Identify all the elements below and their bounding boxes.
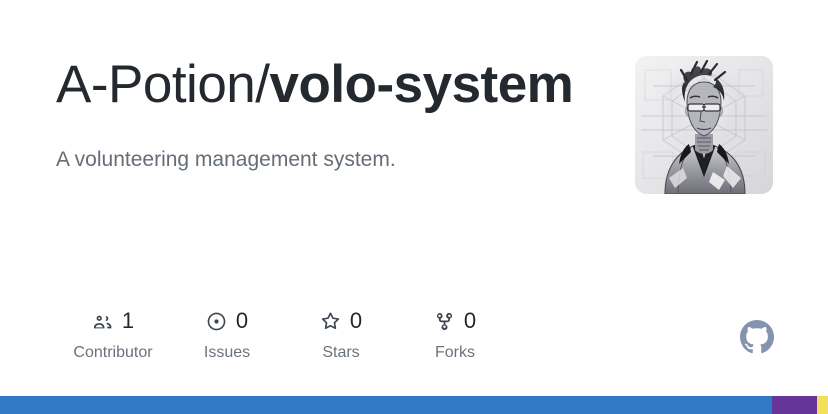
avatar	[635, 56, 773, 194]
repo-stats: 1 Contributor 0 Issues	[56, 308, 512, 362]
stat-forks-label: Forks	[435, 344, 475, 362]
stat-contributors-label: Contributor	[73, 344, 152, 362]
stat-issues-label: Issues	[204, 344, 250, 362]
issue-opened-icon	[206, 311, 227, 332]
language-segment-yellow	[817, 396, 828, 414]
language-bar	[0, 396, 828, 414]
repo-card: A-Potion/volo-system A volunteering mana…	[0, 0, 828, 396]
stat-contributors-value: 1	[122, 310, 134, 332]
stat-issues-value: 0	[236, 310, 248, 332]
stat-issues: 0 Issues	[170, 308, 284, 362]
stat-forks-top: 0	[434, 308, 476, 334]
stat-contributors: 1 Contributor	[56, 308, 170, 362]
stat-forks: 0 Forks	[398, 308, 512, 362]
repo-header: A-Potion/volo-system A volunteering mana…	[56, 52, 616, 175]
stat-stars: 0 Stars	[284, 308, 398, 362]
language-segment-blue	[0, 396, 772, 414]
repo-name[interactable]: volo-system	[270, 55, 574, 114]
repo-description: A volunteering management system.	[56, 146, 616, 174]
repo-forked-icon	[434, 311, 455, 332]
page-title: A-Potion/volo-system	[56, 52, 616, 118]
language-segment-purple	[772, 396, 817, 414]
stat-stars-top: 0	[320, 308, 362, 334]
star-icon	[320, 311, 341, 332]
stat-forks-value: 0	[464, 310, 476, 332]
stat-contributors-top: 1	[92, 308, 134, 334]
github-octocat-icon	[740, 320, 774, 354]
stat-stars-label: Stars	[322, 344, 359, 362]
repo-owner[interactable]: A-Potion/	[56, 55, 270, 114]
stat-stars-value: 0	[350, 310, 362, 332]
people-icon	[92, 311, 113, 332]
stat-issues-top: 0	[206, 308, 248, 334]
